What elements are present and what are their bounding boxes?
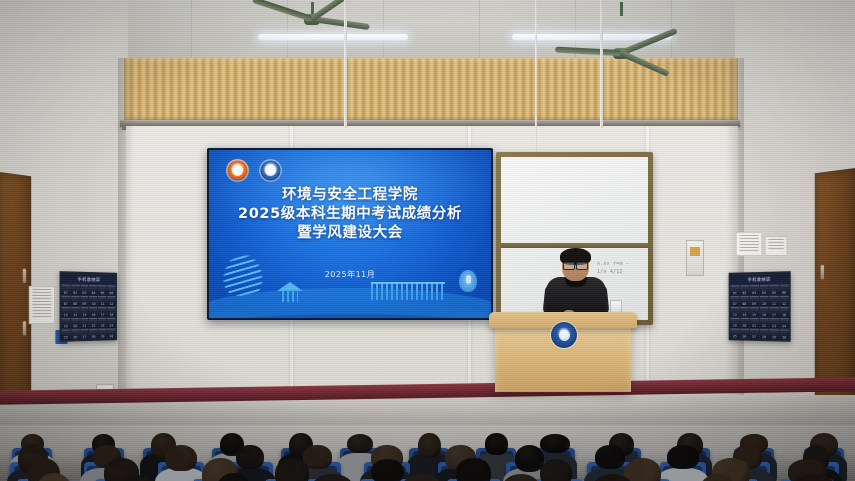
slide-surface: 环境与安全工程学院 2025级本科生期中考试成绩分析 暨学风建设大会 2025年… [209,150,491,318]
phone-pocket-cell[interactable]: 10 [759,296,768,306]
phone-pocket-cell[interactable]: 07 [730,296,739,306]
fan-rod [620,2,623,16]
slide-title-line-3: 暨学风建设大会 [209,224,491,243]
door-handle[interactable] [821,265,824,280]
phone-pocket-cell[interactable]: 25 [62,329,70,339]
phone-pocket-cell[interactable]: 21 [750,318,759,328]
phone-pocket-cell[interactable]: 01 [730,285,739,295]
phone-pocket-cell[interactable]: 16 [89,307,97,317]
phone-pocket-cell[interactable]: 25 [730,329,739,339]
door-left[interactable] [0,172,31,408]
audience-person-head [595,445,625,469]
phone-pocket-cell[interactable]: 30 [780,329,789,339]
ceiling-fan-right [556,2,686,36]
lecture-hall-photo: 环境与安全工程学院 2025级本科生期中考试成绩分析 暨学风建设大会 2025年… [0,0,855,481]
phone-pocket-grid: 0102030405060708091011121314151617181920… [62,285,116,340]
phone-pocket-cell[interactable]: 10 [89,296,97,306]
phone-pocket-cell[interactable]: 07 [62,296,70,306]
audience-person-head [456,458,490,481]
phone-pocket-cell[interactable]: 04 [759,285,768,295]
phone-pocket-cell[interactable]: 02 [740,285,749,295]
ceiling-pole-right [600,0,603,128]
phone-pocket-cell[interactable]: 02 [71,285,79,295]
lantern-icon [459,270,477,292]
podium-emblem-icon [551,322,577,348]
phone-pocket-cell[interactable]: 06 [780,285,789,295]
suspended-ceiling [0,0,855,60]
audience-person-head [347,434,374,454]
phone-pocket-cell[interactable]: 08 [740,296,749,306]
phone-pocket-cell[interactable]: 14 [740,307,749,317]
phone-pocket-cell[interactable]: 11 [99,296,107,306]
audience-person-head [540,459,572,481]
audience-person-head [667,445,699,469]
wall-mounted-box [686,240,704,276]
audience-area [0,386,855,481]
phone-pocket-cell[interactable]: 24 [107,318,115,328]
fluorescent-tube-left [258,34,408,40]
phone-pocket-cell[interactable]: 12 [780,296,789,306]
slide-title: 环境与安全工程学院 2025级本科生期中考试成绩分析 暨学风建设大会 [209,186,491,243]
phone-pocket-cell[interactable]: 29 [769,329,778,339]
university-emblem-icon [226,159,249,182]
audience-person-head [236,445,263,469]
phone-pocket-grid: 0102030405060708091011121314151617181920… [730,285,788,340]
wood-slat-panel [124,58,738,124]
phone-pocket-cell[interactable]: 04 [89,285,97,295]
phone-pocket-cell[interactable]: 16 [759,307,768,317]
ceiling-pole-left [344,0,347,128]
phone-pocket-cell[interactable]: 30 [107,329,115,339]
audience-person-head [371,459,405,481]
projection-screen[interactable]: 环境与安全工程学院 2025级本科生期中考试成绩分析 暨学风建设大会 2025年… [207,148,493,320]
door-handle[interactable] [23,321,26,336]
fan-blade [252,0,313,22]
phone-pocket-cell[interactable]: 19 [62,318,70,328]
wall-notice-right-2 [765,236,788,256]
phone-pocket-cell[interactable]: 19 [730,318,739,328]
phone-pocket-cell[interactable]: 01 [62,285,70,295]
wall-notice-left [29,286,55,324]
phone-pocket-cell[interactable]: 22 [759,318,768,328]
audience-person-head [624,458,661,481]
phone-pocket-cell[interactable]: 13 [730,307,739,317]
phone-pocket-cell[interactable]: 21 [80,318,88,328]
phone-pocket-cell[interactable]: 13 [62,307,70,317]
audience-person-head [303,445,331,468]
phone-pocket-cell[interactable]: 22 [89,318,97,328]
phone-pocket-cell[interactable]: 20 [71,318,79,328]
phone-pocket-cell[interactable]: 23 [769,318,778,328]
phone-pocket-board-right[interactable]: 手机收纳袋 0102030405060708091011121314151617… [729,271,791,342]
phone-pocket-cell[interactable]: 20 [740,318,749,328]
phone-pocket-cell[interactable]: 09 [80,296,88,306]
phone-pocket-cell[interactable]: 08 [71,296,79,306]
phone-pocket-cell[interactable]: 26 [71,329,79,339]
phone-pocket-cell[interactable]: 12 [107,296,115,306]
wall-corner-shading-left [118,58,134,416]
phone-board-header: 手机收纳袋 [730,274,788,284]
phone-pocket-cell[interactable]: 11 [769,296,778,306]
phone-pocket-cell[interactable]: 06 [107,285,115,295]
audience-person-head [275,458,309,481]
phone-pocket-cell[interactable]: 17 [99,307,107,317]
phone-pocket-cell[interactable]: 23 [99,318,107,328]
phone-pocket-cell[interactable]: 15 [80,307,88,317]
phone-board-header: 手机收纳袋 [62,274,116,284]
audience-person-head [165,445,197,471]
phone-pocket-cell[interactable]: 28 [89,329,97,339]
phone-pocket-cell[interactable]: 27 [750,329,759,339]
pagoda-icon [223,254,263,296]
phone-pocket-cell[interactable]: 03 [80,285,88,295]
audience-person-head [540,434,570,453]
phone-pocket-cell[interactable]: 15 [750,307,759,317]
phone-pocket-cell[interactable]: 18 [107,307,115,317]
phone-pocket-cell[interactable]: 24 [780,318,789,328]
phone-pocket-board-left[interactable]: 手机收纳袋 0102030405060708091011121314151617… [60,271,118,342]
fan-blade [312,16,370,30]
door-handle[interactable] [23,269,26,284]
phone-pocket-cell[interactable]: 17 [769,307,778,317]
audience-person-head [418,433,441,458]
phone-pocket-cell[interactable]: 29 [99,329,107,339]
ceiling-fan-left [252,2,372,32]
wall-notice-right-1 [736,232,763,256]
speaker-person [546,250,606,316]
slide-title-line-1: 环境与安全工程学院 [209,186,491,205]
glasses-icon [563,262,588,268]
phone-pocket-cell[interactable]: 05 [99,285,107,295]
phone-pocket-cell[interactable]: 28 [759,329,768,339]
audience-person-head [485,433,508,455]
phone-pocket-cell[interactable]: 09 [750,296,759,306]
phone-pocket-cell[interactable]: 05 [769,285,778,295]
phone-pocket-cell[interactable]: 03 [750,285,759,295]
phone-pocket-cell[interactable]: 18 [780,307,789,317]
phone-pocket-cell[interactable]: 27 [80,329,88,339]
college-emblem-icon [259,159,282,182]
slide-title-line-2: 2025级本科生期中考试成绩分析 [209,205,491,224]
phone-pocket-cell[interactable]: 14 [71,307,79,317]
phone-pocket-cell[interactable]: 26 [740,329,749,339]
